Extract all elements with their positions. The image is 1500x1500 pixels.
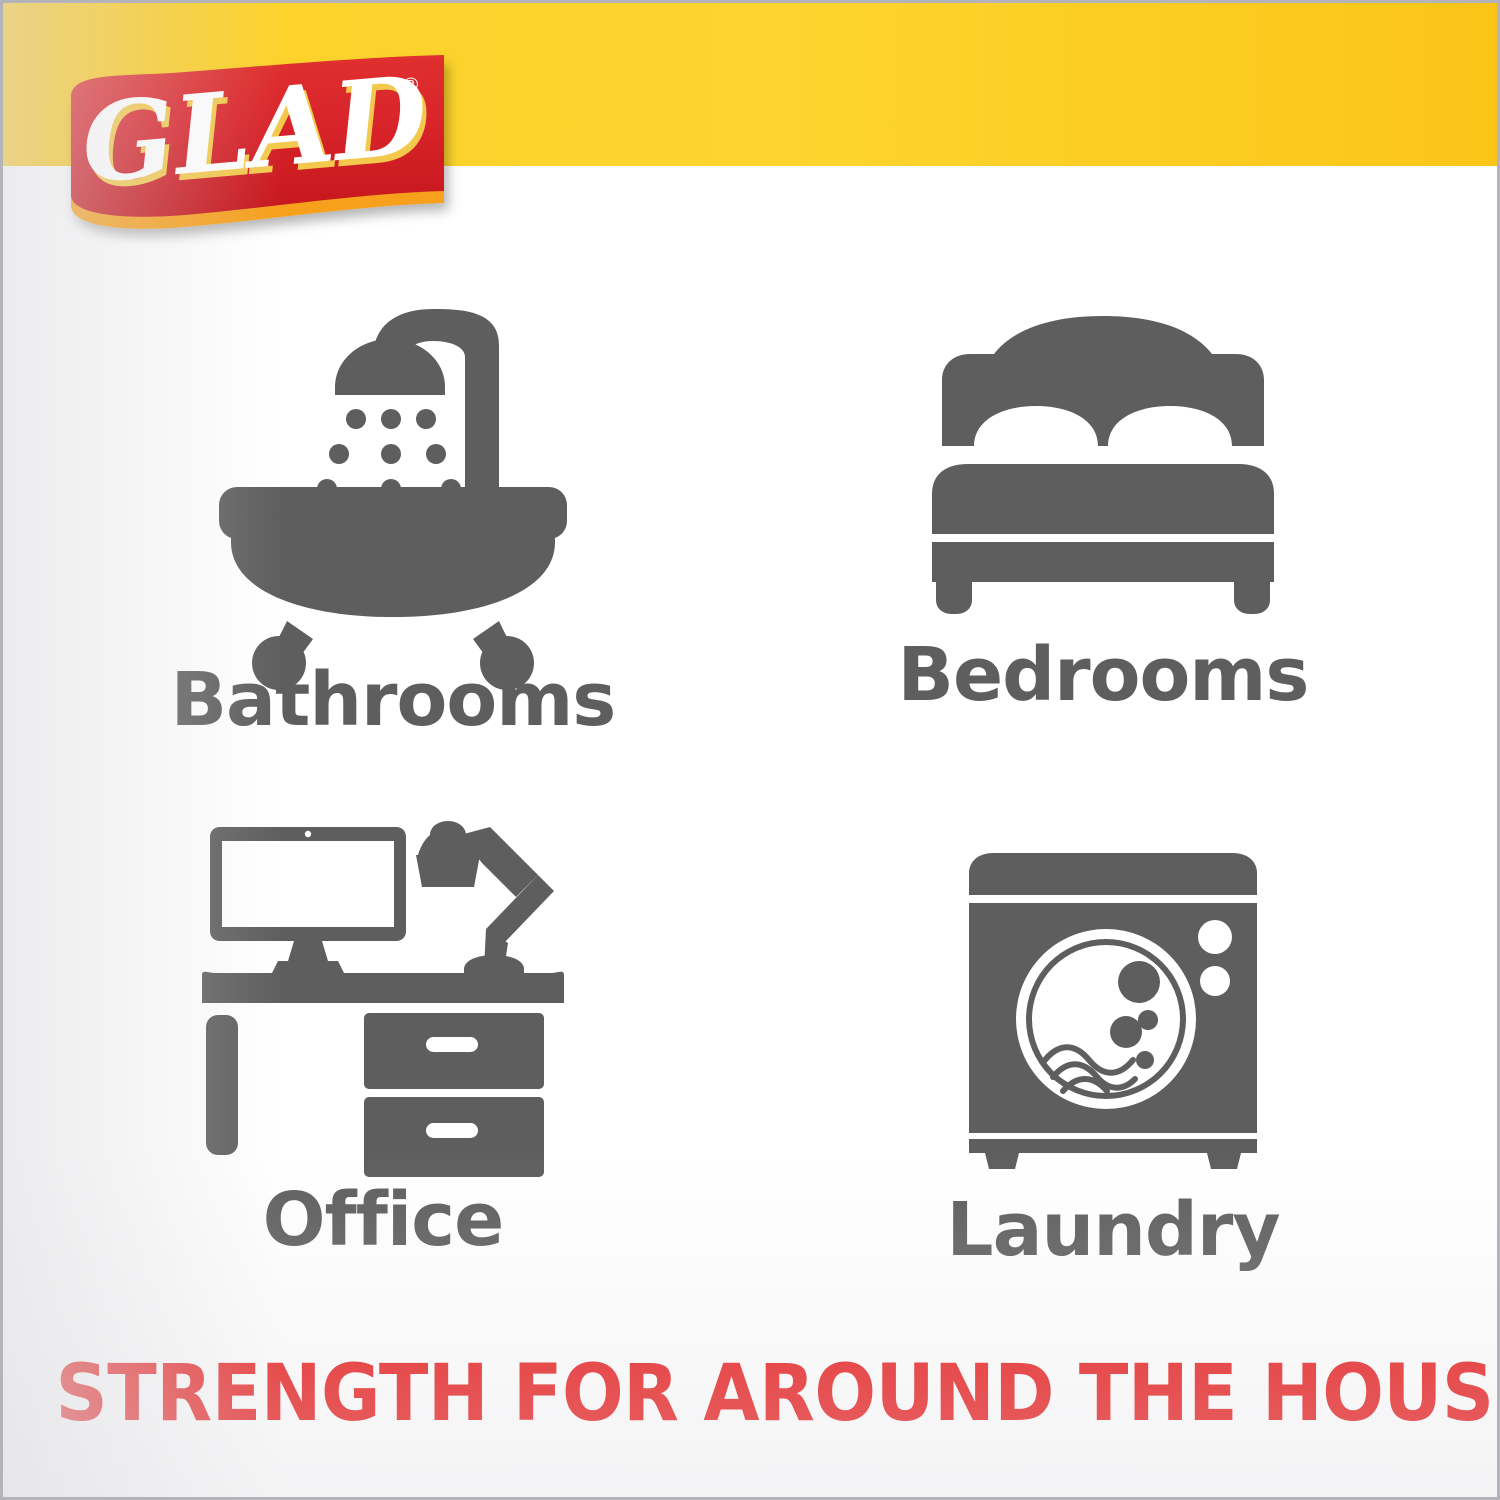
registered-trademark-icon: ® xyxy=(402,74,421,96)
washing-machine-icon xyxy=(963,851,1263,1171)
room-cell-laundry[interactable]: Laundry xyxy=(833,851,1393,1267)
room-icon-grid: Bathrooms xyxy=(3,271,1500,1321)
tagline: STRENGTH FOR AROUND THE HOUSE xyxy=(56,1355,1451,1433)
room-label-laundry: Laundry xyxy=(946,1193,1279,1267)
room-label-office: Office xyxy=(263,1183,504,1257)
room-cell-bathrooms[interactable]: Bathrooms xyxy=(113,291,673,737)
room-label-bathrooms: Bathrooms xyxy=(171,663,616,737)
room-label-bedrooms: Bedrooms xyxy=(898,638,1309,712)
bathtub-shower-icon xyxy=(213,291,573,641)
bed-icon xyxy=(928,316,1278,616)
room-cell-bedrooms[interactable]: Bedrooms xyxy=(823,316,1383,712)
promo-page: GLAD GLAD ® xyxy=(0,0,1500,1500)
room-cell-office[interactable]: Office xyxy=(103,821,663,1257)
glad-logo: GLAD GLAD ® xyxy=(65,55,450,260)
desk-monitor-lamp-icon xyxy=(198,821,568,1161)
